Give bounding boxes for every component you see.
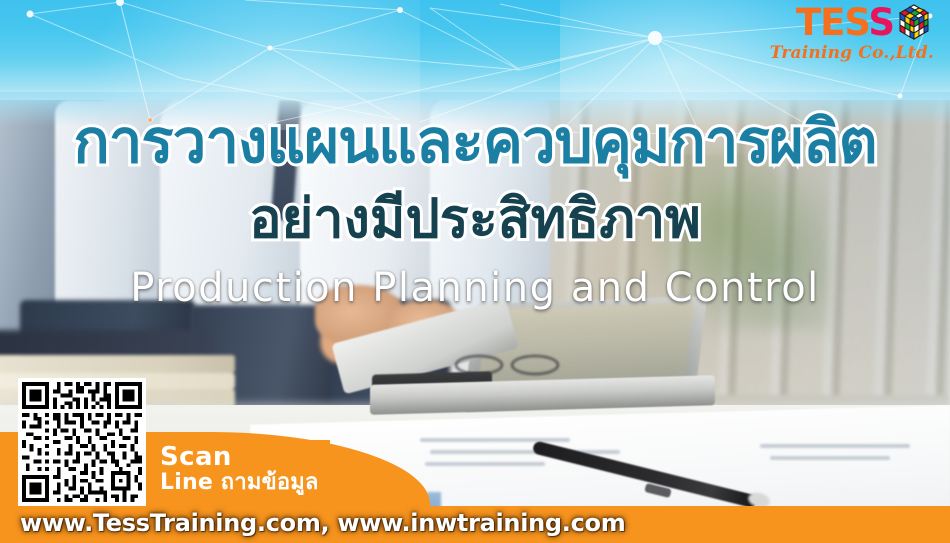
eyeglasses	[455, 355, 565, 371]
headline-english: Production Planning and Control	[0, 268, 950, 308]
scan-text-block: Scan Line ถามข้อมูล	[160, 444, 319, 495]
scan-label-line2: Line ถามข้อมูล	[160, 472, 319, 495]
headline-thai-line1: การวางแผนและควบคุมการผลิต	[0, 112, 950, 172]
book	[0, 355, 235, 373]
logo-wordmark: TESS	[796, 4, 894, 41]
scan-label-line1: Scan	[160, 444, 319, 471]
tess-logo[interactable]: TESS	[770, 4, 936, 62]
paper-text-line	[420, 438, 570, 442]
rubiks-cube-icon	[896, 2, 936, 44]
paper-text-line	[760, 444, 910, 448]
lens	[511, 355, 559, 375]
promotional-poster: TESS	[0, 0, 950, 543]
paper-text-line	[425, 462, 545, 466]
footer-urls[interactable]: www.TessTraining.com, www.inwtraining.co…	[20, 509, 625, 537]
lens	[455, 355, 503, 375]
headline-thai-line2: อย่างมีประสิทธิภาพ	[0, 192, 950, 246]
logo-tagline: Training Co.,Ltd.	[770, 45, 934, 62]
logo-wordmark-red: S	[868, 1, 894, 44]
qr-code[interactable]	[18, 378, 146, 506]
logo-wordmark-orange: TES	[796, 1, 869, 44]
paper-text-line	[770, 456, 890, 460]
paper-text-line	[430, 450, 620, 454]
qr-code-box[interactable]	[18, 378, 146, 506]
